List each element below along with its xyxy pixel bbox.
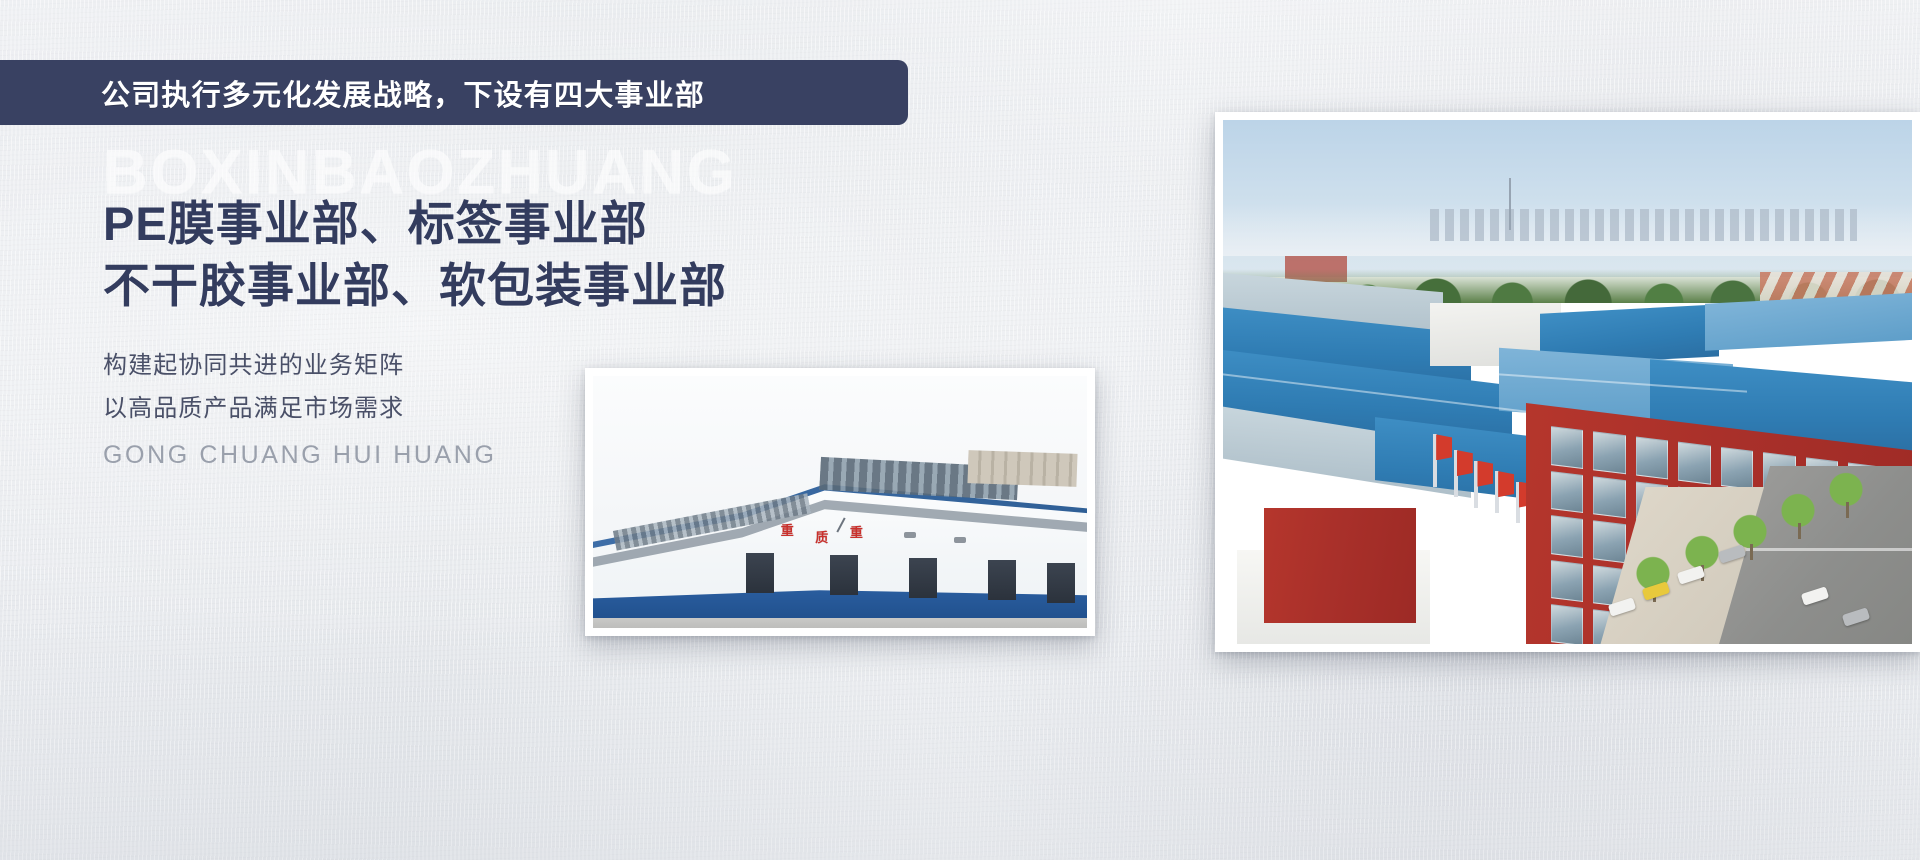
flag-4 <box>1495 471 1499 513</box>
warehouse-door-1 <box>746 553 774 593</box>
warehouse-door-2 <box>830 555 858 595</box>
radio-mast <box>1509 178 1511 230</box>
headline-line-2: 不干胶事业部、软包装事业部 <box>103 255 923 317</box>
banner-stage: 公司执行多元化发展战略，下设有四大事业部 BOXINBAOZHUANG PE膜事… <box>0 0 1920 860</box>
aerial-factory-photo <box>1215 112 1920 652</box>
page-title: PE膜事业部、标签事业部 不干胶事业部、软包装事业部 <box>103 193 923 317</box>
flag-2 <box>1454 450 1458 497</box>
tree-4 <box>1781 493 1815 539</box>
brand-watermark-text: BOXINBAOZHUANG <box>103 142 923 204</box>
warehouse-door-4 <box>988 560 1016 600</box>
ribbon-text: 公司执行多元化发展战略，下设有四大事业部 <box>101 72 705 114</box>
warehouse-door-3 <box>909 558 937 598</box>
road-lane-marking <box>1746 548 1912 551</box>
tree-5 <box>1829 472 1863 518</box>
sub-line-2: 以高品质产品满足市场需求 <box>103 388 923 431</box>
warehouse-ground <box>593 618 1087 628</box>
pinyin-tagline: GONG CHUANG HUI HUANG <box>103 441 923 470</box>
aerial-photo-image <box>1223 120 1912 644</box>
distant-skyline <box>1430 209 1857 240</box>
roof-blue-c <box>1705 292 1912 351</box>
flag-1 <box>1433 434 1437 486</box>
flag-3 <box>1474 461 1478 508</box>
security-camera-1 <box>904 532 916 538</box>
wall-character-2: 质 <box>815 527 828 546</box>
flag-5 <box>1516 482 1520 524</box>
sub-line-1: 构建起协同共进的业务矩阵 <box>103 345 923 388</box>
wall-character-3: 重 <box>850 522 863 541</box>
security-camera-2 <box>954 537 966 543</box>
upper-window-band <box>968 450 1078 487</box>
warehouse-door-5 <box>1047 563 1075 603</box>
red-building-left-wing <box>1264 508 1416 623</box>
hero-subtitle: 构建起协同共进的业务矩阵 以高品质产品满足市场需求 <box>103 345 923 430</box>
headline-ribbon: 公司执行多元化发展战略，下设有四大事业部 <box>0 60 908 125</box>
hero-copy-block: BOXINBAOZHUANG PE膜事业部、标签事业部 不干胶事业部、软包装事业… <box>103 142 923 470</box>
wall-character-1: 重 <box>781 520 794 539</box>
